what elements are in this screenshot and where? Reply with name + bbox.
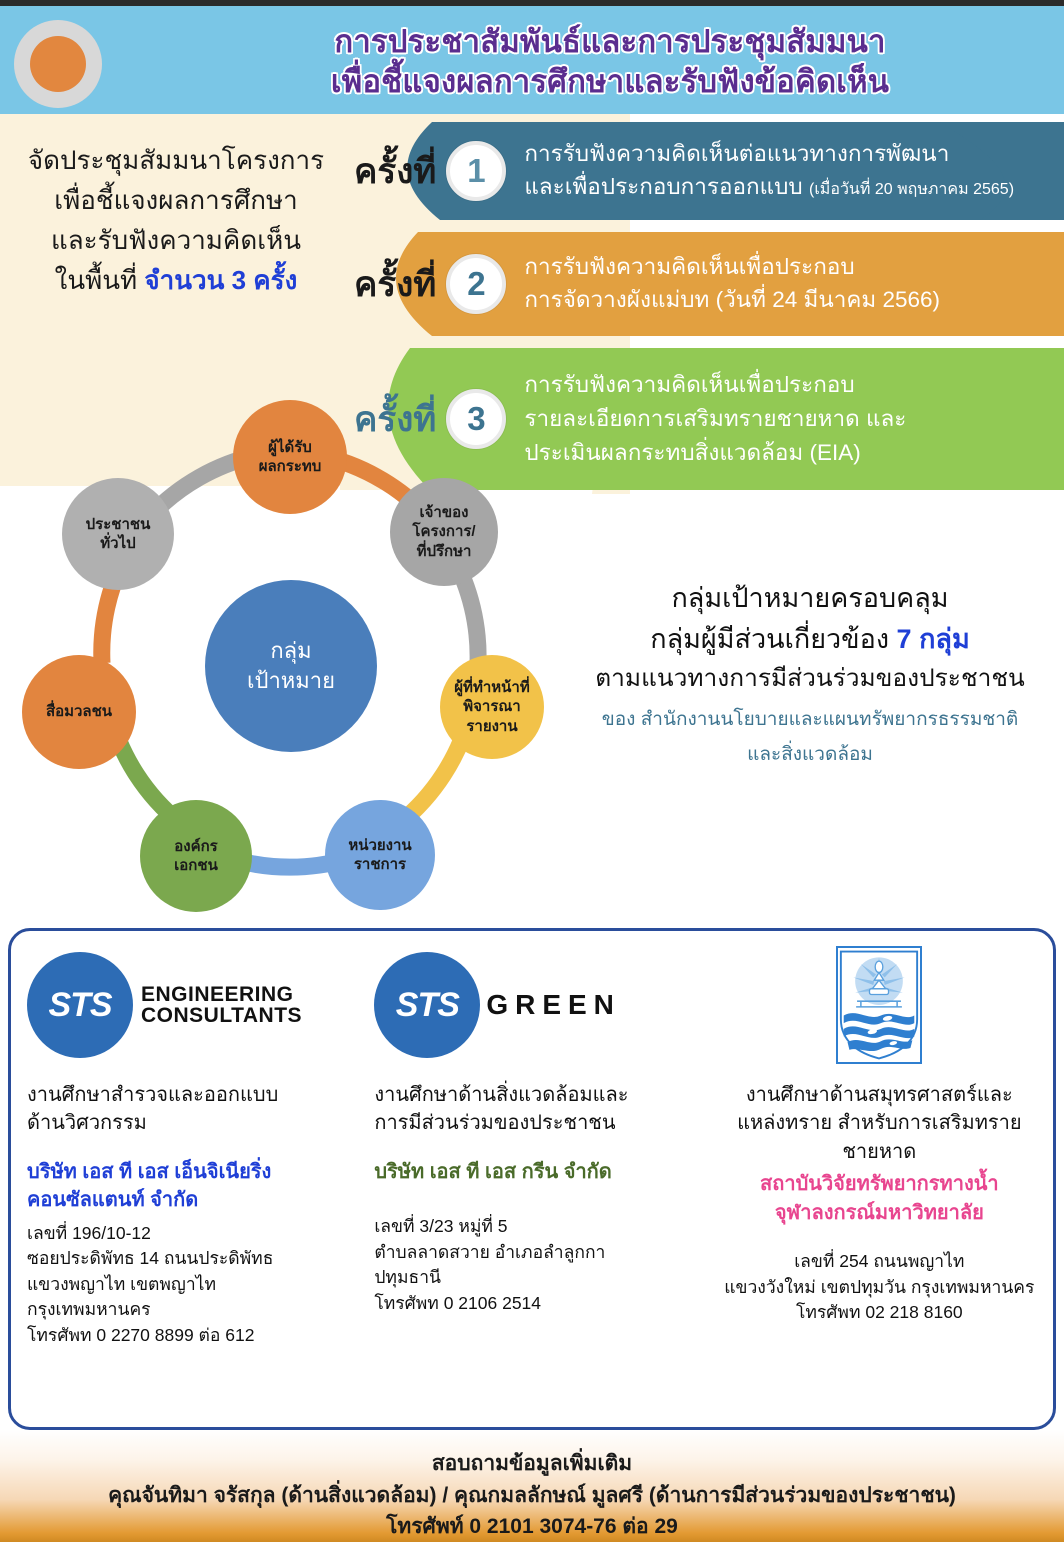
partner-1-addr-line5: โทรศัพท 0 2270 8899 ต่อ 612 [27, 1323, 342, 1349]
partner-1-scope: งานศึกษาสำรวจและออกแบบ ด้านวิศวกรรม [27, 1081, 342, 1138]
sts-logo-text: STS [48, 986, 111, 1025]
sts-green-logo-icon: STS [374, 952, 480, 1058]
partner-3-scope-line3: ชายหาด [722, 1138, 1037, 1166]
round-3-text-line3: ประเมินผลกระทบสิ่งแวดล้อม (EIA) [524, 436, 906, 470]
partner-1-org-line1: บริษัท เอส ที เอส เอ็นจิเนียริ่ง [27, 1158, 342, 1186]
partner-3-addr-line2: แขวงวังใหม่ เขตปทุมวัน กรุงเทพมหานคร [722, 1275, 1037, 1301]
partners-card: STS ENGINEERING CONSULTANTS งานศึกษาสำรว… [8, 928, 1056, 1430]
round-1-text-line2-wrap: และเพื่อประกอบการออกแบบ (เมื่อวันที่ 20 … [524, 171, 1014, 204]
node-project-owner-line1: เจ้าของ [412, 503, 475, 522]
target-group-summary: กลุ่มเป้าหมายครอบคลุม กลุ่มผู้มีส่วนเกี่… [560, 578, 1060, 769]
partner-2-scope-line1: งานศึกษาด้านสิ่งแวดล้อมและ [374, 1081, 689, 1109]
partner-3-org-name: สถาบันวิจัยทรัพยากรทางน้ำ จุฬาลงกรณ์มหาว… [722, 1170, 1037, 1227]
node-report-reviewer-line1: ผู้ที่ทำหน้าที่ [454, 678, 529, 697]
node-government-agency: หน่วยงาน ราชการ [325, 800, 435, 910]
partner-2-org-name: บริษัท เอส ที เอส กรีน จำกัด [374, 1158, 689, 1186]
node-report-reviewer-line3: รายงาน [454, 717, 529, 736]
partner-1-addr-line4: กรุงเทพมหานคร [27, 1297, 342, 1323]
node-center-line2: เป้าหมาย [247, 666, 335, 696]
intro-line4-prefix: ในพื้นที่ [55, 265, 145, 295]
page-title-line1: การประชาสัมพันธ์และการประชุมสัมมนา [180, 22, 1040, 62]
node-government-agency-line2: ราชการ [348, 855, 411, 874]
round-3-badge: 3 [446, 389, 506, 449]
node-general-public: ประชาชน ทั่วไป [62, 478, 174, 590]
partner-column-sts-green: STS GREEN งานศึกษาด้านสิ่งแวดล้อมและ การ… [358, 931, 705, 1427]
page-title-line2: เพื่อชี้แจงผลการศึกษาและรับฟังข้อคิดเห็น [180, 62, 1040, 102]
header-banner: การประชาสัมพันธ์และการประชุมสัมมนา เพื่อ… [0, 6, 1064, 114]
sts-engineering-wordmark: ENGINEERING CONSULTANTS [141, 984, 302, 1027]
node-project-owner-line2: โครงการ/ [412, 522, 475, 541]
node-affected-people: ผู้ได้รับ ผลกระทบ [233, 400, 347, 514]
footer-line2: คุณจันทิมา จรัสกุล (ด้านสิ่งแวดล้อม) / ค… [0, 1480, 1064, 1512]
round-1-label: ครั้งที่ [354, 154, 436, 189]
partner-3-scope-line1: งานศึกษาด้านสมุทรศาสตร์และ [722, 1081, 1037, 1109]
partner-2-addr-line4: โทรศัพท 0 2106 2514 [374, 1291, 689, 1317]
partner-3-scope: งานศึกษาด้านสมุทรศาสตร์และ แหล่งทราย สำห… [722, 1081, 1037, 1166]
partner-2-address: เลขที่ 3/23 หมู่ที่ 5 ตำบลลาดสวาย อำเภอล… [374, 1214, 689, 1316]
partner-1-org-line2: คอนซัลแตนท์ จำกัด [27, 1186, 342, 1214]
page-title: การประชาสัมพันธ์และการประชุมสัมมนา เพื่อ… [180, 22, 1040, 101]
partner-column-sts-engineering: STS ENGINEERING CONSULTANTS งานศึกษาสำรว… [11, 931, 358, 1427]
round-2-badge: 2 [446, 254, 506, 314]
round-2-text-line2: การจัดวางผังแม่บท (วันที่ 24 มีนาคม 2566… [524, 284, 940, 317]
round-3-label: ครั้งที่ [354, 402, 436, 437]
footer-line3: โทรศัพท์ 0 2101 3074-76 ต่อ 29 [0, 1511, 1064, 1542]
partner-column-chula: งานศึกษาด้านสมุทรศาสตร์และ แหล่งทราย สำห… [706, 931, 1053, 1427]
round-1-badge: 1 [446, 141, 506, 201]
partner-1-scope-line1: งานศึกษาสำรวจและออกแบบ [27, 1081, 342, 1109]
summary-line4: ของ สำนักงานนโยบายและแผนทรัพยากรธรรมชาติ [560, 706, 1060, 734]
intro-line4: ในพื้นที่ จำนวน 3 ครั้ง [16, 260, 336, 300]
intro-line1: จัดประชุมสัมมนาโครงการ [16, 140, 336, 180]
summary-line5: และสิ่งแวดล้อม [560, 741, 1060, 769]
node-private-sector: องค์กร เอกชน [140, 800, 252, 912]
summary-line2-prefix: กลุ่มผู้มีส่วนเกี่ยวข้อง [650, 624, 896, 654]
round-2-text: การรับฟังความคิดเห็นเพื่อประกอบ การจัดวา… [524, 251, 940, 317]
poster-root: การประชาสัมพันธ์และการประชุมสัมมนา เพื่อ… [0, 0, 1064, 1542]
intro-line4-highlight: จำนวน 3 ครั้ง [144, 265, 297, 295]
round-2-label: ครั้งที่ [354, 267, 436, 302]
partner-2-scope: งานศึกษาด้านสิ่งแวดล้อมและ การมีส่วนร่วม… [374, 1081, 689, 1138]
intro-text: จัดประชุมสัมมนาโครงการ เพื่อชี้แจงผลการศ… [16, 140, 336, 300]
node-target-group-center: กลุ่ม เป้าหมาย [205, 580, 377, 752]
partner-3-addr-line1: เลขที่ 254 ถนนพญาไท [722, 1249, 1037, 1275]
node-project-owner: เจ้าของ โครงการ/ ที่ปรึกษา [390, 478, 498, 586]
round-1-row: ครั้งที่ 1 การรับฟังความคิดเห็นต่อแนวทาง… [340, 122, 1064, 220]
round-1-text-line1: การรับฟังความคิดเห็นต่อแนวทางการพัฒนา [524, 138, 1014, 171]
sts-engineering-logo: STS ENGINEERING CONSULTANTS [27, 945, 342, 1065]
partner-3-address: เลขที่ 254 ถนนพญาไท แขวงวังใหม่ เขตปทุมว… [722, 1249, 1037, 1326]
summary-line2: กลุ่มผู้มีส่วนเกี่ยวข้อง 7 กลุ่ม [560, 619, 1060, 660]
intro-line2: เพื่อชี้แจงผลการศึกษา [16, 180, 336, 220]
node-private-sector-line2: เอกชน [174, 856, 218, 875]
chula-logo [722, 945, 1037, 1065]
node-center-line1: กลุ่ม [247, 636, 335, 666]
partner-3-org-line1: สถาบันวิจัยทรัพยากรทางน้ำ [722, 1170, 1037, 1198]
node-report-reviewer: ผู้ที่ทำหน้าที่ พิจารณา รายงาน [440, 655, 544, 759]
summary-line2-highlight: 7 กลุ่ม [897, 624, 970, 654]
summary-line1: กลุ่มเป้าหมายครอบคลุม [560, 578, 1060, 619]
sts-green-logo-text: STS [396, 986, 459, 1025]
partner-1-address: เลขที่ 196/10-12 ซอยประดิพัทธ 14 ถนนประด… [27, 1221, 342, 1349]
footer-line1: สอบถามข้อมูลเพิ่มเติม [0, 1448, 1064, 1480]
node-mass-media: สื่อมวลชน [22, 655, 136, 769]
partner-2-addr-line1: เลขที่ 3/23 หมู่ที่ 5 [374, 1214, 689, 1240]
sts-engineering-word-line2: CONSULTANTS [141, 1005, 302, 1026]
partner-1-addr-line2: ซอยประดิพัทธ 14 ถนนประดิพัทธ [27, 1246, 342, 1272]
round-2-text-line1: การรับฟังความคิดเห็นเพื่อประกอบ [524, 251, 940, 284]
footer-contact: สอบถามข้อมูลเพิ่มเติม คุณจันทิมา จรัสกุล… [0, 1430, 1064, 1542]
partner-1-addr-line3: แขวงพญาไท เขตพญาไท [27, 1272, 342, 1298]
partner-2-org-line1: บริษัท เอส ที เอส กรีน จำกัด [374, 1158, 689, 1186]
node-affected-people-line1: ผู้ได้รับ [259, 438, 322, 457]
sts-engineering-word-line1: ENGINEERING [141, 984, 302, 1005]
sts-green-logo: STS GREEN [374, 945, 689, 1065]
partner-2-addr-line3: ปทุมธานี [374, 1265, 689, 1291]
sts-green-wordmark: GREEN [486, 989, 621, 1021]
node-government-agency-line1: หน่วยงาน [348, 836, 411, 855]
node-report-reviewer-line2: พิจารณา [454, 697, 529, 716]
round-2-row: ครั้งที่ 2 การรับฟังความคิดเห็นเพื่อประก… [340, 232, 1064, 336]
node-mass-media-line1: สื่อมวลชน [46, 702, 112, 721]
round-3-text: การรับฟังความคิดเห็นเพื่อประกอบ รายละเอี… [524, 368, 906, 469]
round-3-text-line2: รายละเอียดการเสริมทรายชายหาด และ [524, 402, 906, 436]
partner-1-scope-line2: ด้านวิศวกรรม [27, 1109, 342, 1137]
round-1-note: (เมื่อวันที่ 20 พฤษภาคม 2565) [809, 181, 1014, 198]
node-project-owner-line3: ที่ปรึกษา [412, 542, 475, 561]
round-1-text: การรับฟังความคิดเห็นต่อแนวทางการพัฒนา แล… [524, 138, 1014, 204]
partner-2-scope-line2: การมีส่วนร่วมของประชาชน [374, 1109, 689, 1137]
round-3-text-line1: การรับฟังความคิดเห็นเพื่อประกอบ [524, 368, 906, 402]
partner-3-scope-line2: แหล่งทราย สำหรับการเสริมทราย [722, 1109, 1037, 1137]
partner-2-addr-line2: ตำบลลาดสวาย อำเภอลำลูกกา [374, 1240, 689, 1266]
summary-line3: ตามแนวทางการมีส่วนร่วมของประชาชน [560, 661, 1060, 698]
round-1-text-line2: และเพื่อประกอบการออกแบบ [524, 174, 802, 199]
intro-line3: และรับฟังความคิดเห็น [16, 220, 336, 260]
sts-logo-icon: STS [27, 952, 133, 1058]
chula-crest-icon [836, 946, 922, 1064]
partner-3-addr-line3: โทรศัพท 02 218 8160 [722, 1300, 1037, 1326]
partner-3-org-line2: จุฬาลงกรณ์มหาวิทยาลัย [722, 1199, 1037, 1227]
partner-1-org-name: บริษัท เอส ที เอส เอ็นจิเนียริ่ง คอนซัลแ… [27, 1158, 342, 1215]
node-general-public-line1: ประชาชน [86, 515, 151, 534]
header-dot-inner-icon [30, 36, 86, 92]
node-general-public-line2: ทั่วไป [86, 534, 151, 553]
node-private-sector-line1: องค์กร [174, 837, 218, 856]
node-affected-people-line2: ผลกระทบ [259, 457, 322, 476]
partner-1-addr-line1: เลขที่ 196/10-12 [27, 1221, 342, 1247]
